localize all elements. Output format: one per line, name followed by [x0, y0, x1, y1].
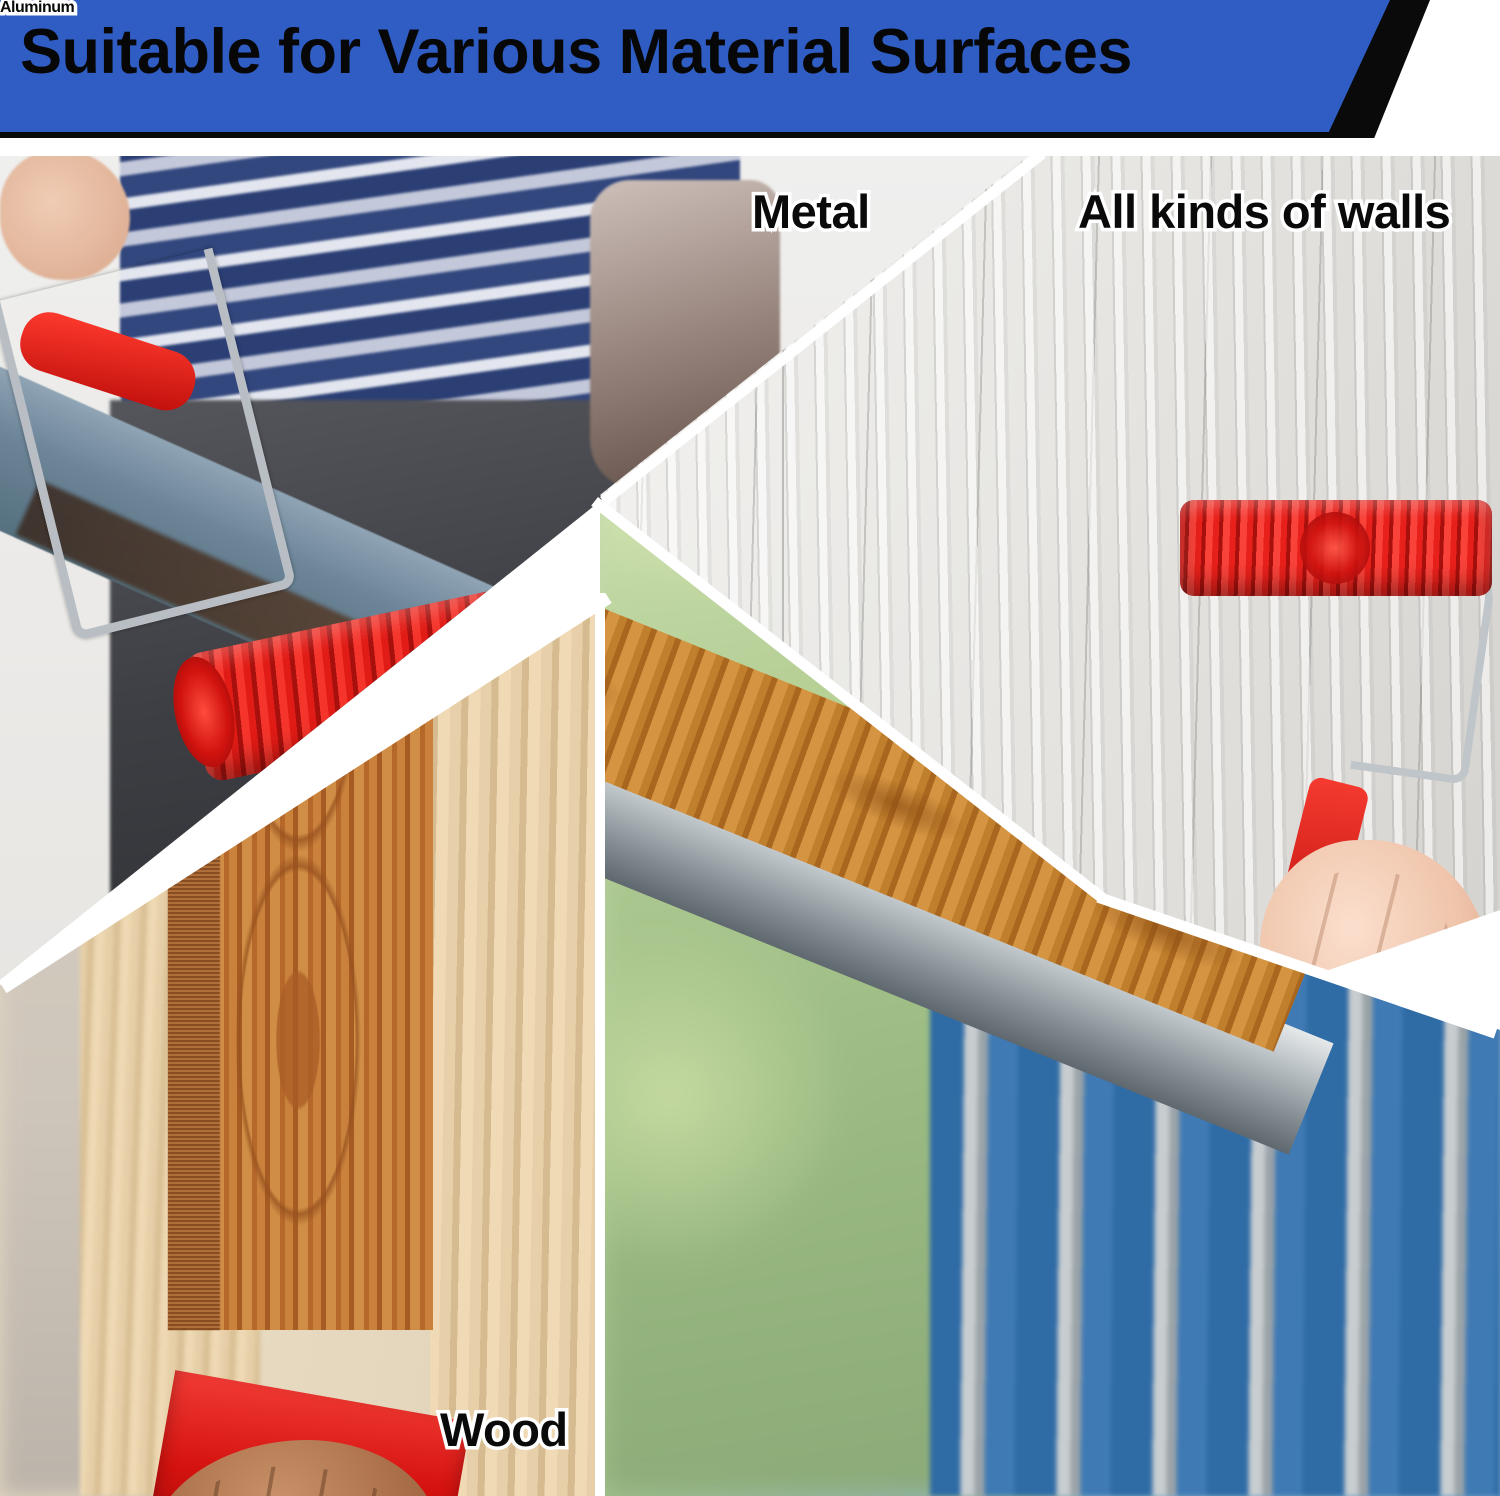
- infographic-root: Suitable for Various Material Surfaces: [0, 0, 1500, 1496]
- divider-top-edge: [0, 150, 1500, 156]
- label-aluminum: Aluminum: [0, 0, 74, 16]
- walls-roller-core: [1300, 512, 1370, 584]
- bare-hand: [0, 150, 130, 280]
- divider-vertical-center: [595, 593, 605, 1496]
- label-metal: Metal: [752, 188, 870, 235]
- material-collage: [0, 150, 1500, 1496]
- roller-grip: [13, 305, 203, 418]
- label-all-kinds-of-walls: All kinds of walls: [1078, 188, 1450, 235]
- header-banner: Suitable for Various Material Surfaces: [0, 0, 1500, 140]
- label-wood: Wood: [440, 1406, 568, 1453]
- page-title: Suitable for Various Material Surfaces: [20, 21, 1132, 84]
